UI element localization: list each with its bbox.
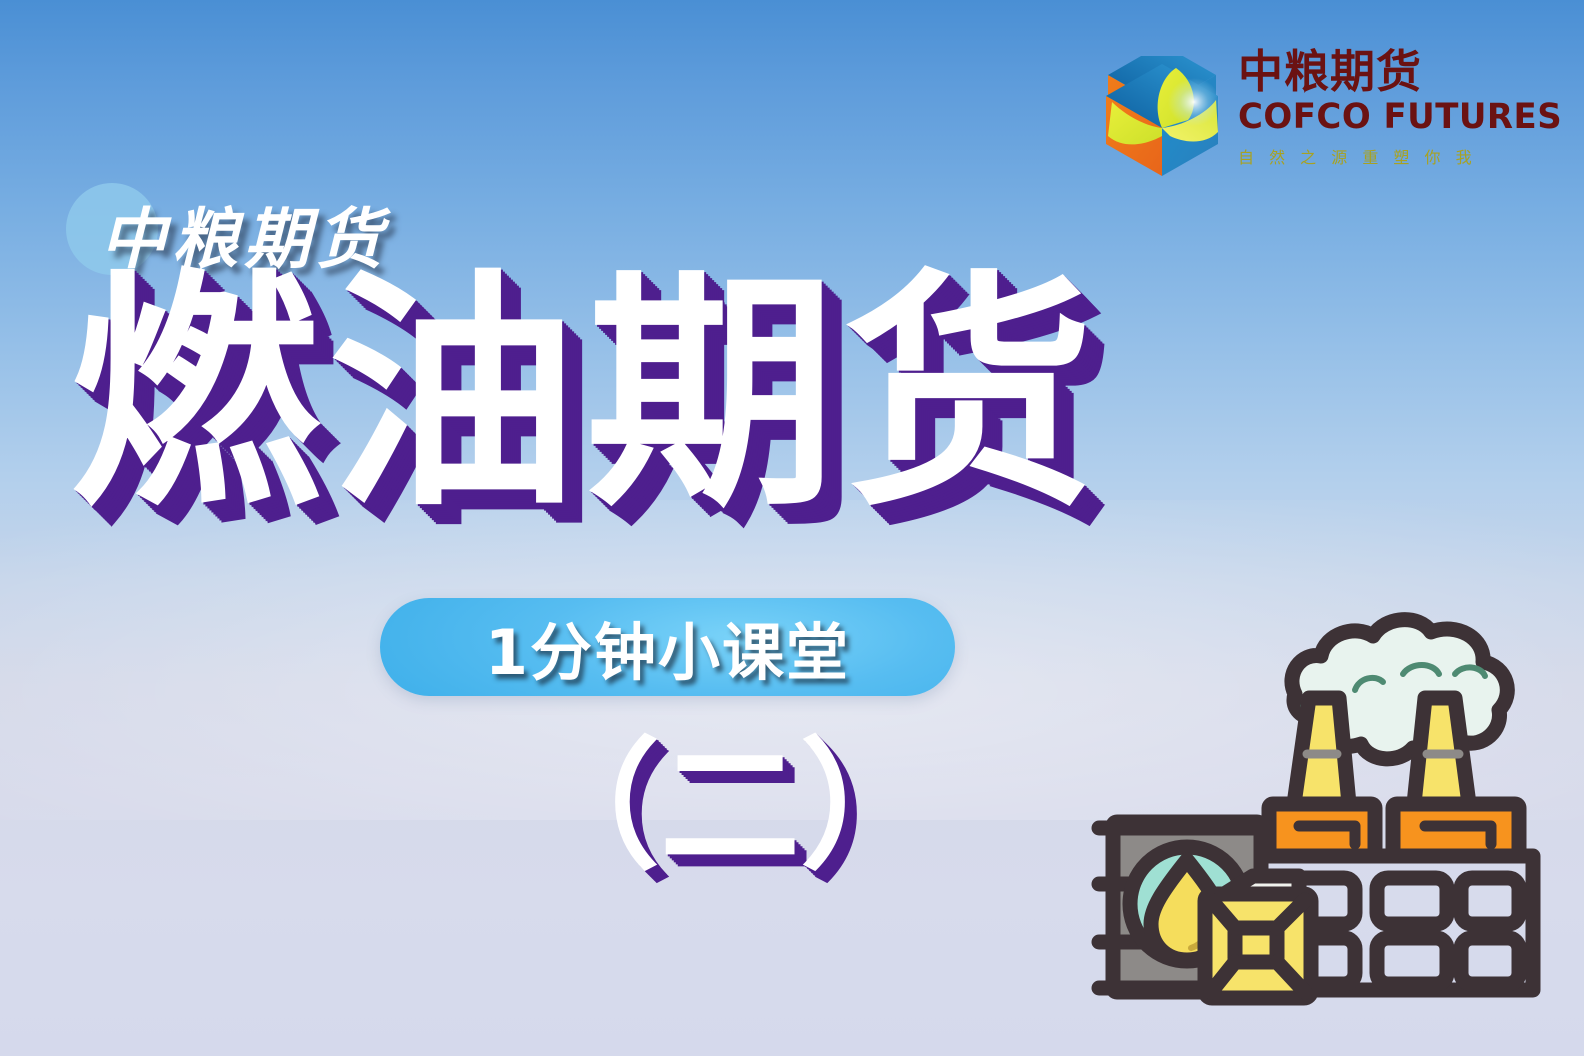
poster-canvas: 中粮期货 COFCO FUTURES 自 然 之 源 重 塑 你 我 中粮期货 … [0,0,1584,1056]
lesson-badge-label: 1分钟小课堂 [380,598,955,696]
cofco-name-en: COFCO FUTURES [1238,98,1529,137]
part-number: （二） [520,738,940,878]
factory-window [1377,878,1447,924]
jerry-can-center-icon [1235,928,1277,962]
cofco-logo-block: 中粮期货 COFCO FUTURES 自 然 之 源 重 塑 你 我 [1098,48,1538,193]
factory-window [1377,938,1447,984]
cofco-name-cn: 中粮期货 [1238,48,1538,96]
factory-window [1461,878,1519,924]
lesson-badge: 1分钟小课堂 [380,598,955,696]
oil-factory-illustration [1063,578,1553,1008]
cofco-logo-text: 中粮期货 COFCO FUTURES 自 然 之 源 重 塑 你 我 [1238,48,1538,168]
cofco-cube-logo-icon [1098,56,1226,184]
page-title: 燃油期货 [70,270,1102,520]
cofco-slogan: 自 然 之 源 重 塑 你 我 [1238,144,1538,168]
factory-window [1461,938,1519,984]
